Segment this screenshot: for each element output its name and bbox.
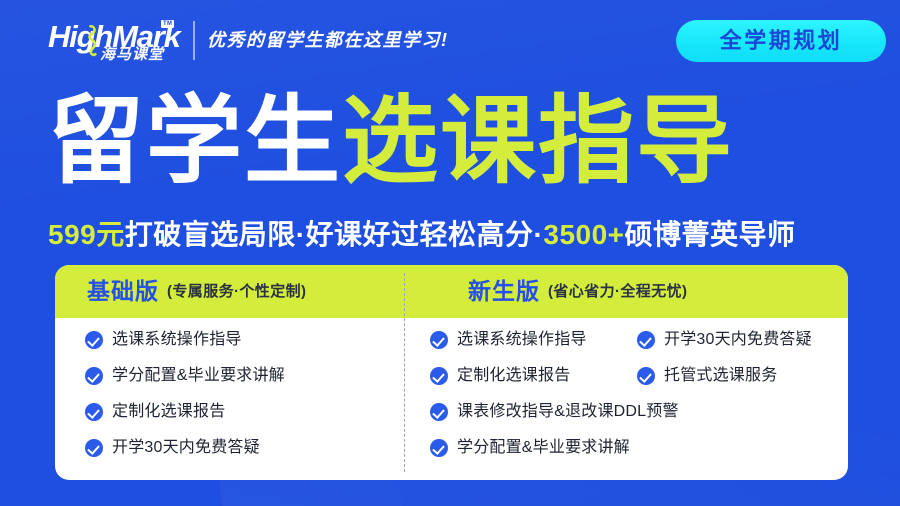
check-circle-icon (430, 439, 448, 457)
list-item: 定制化选课报告 (430, 363, 637, 389)
hero-title-part-2: 选课指导 (342, 94, 734, 190)
logo-chinese-name: 海马课堂 (100, 47, 164, 62)
feature-row: 开学30天内免费答疑 (85, 435, 385, 461)
hero-title: 留学生 选课指导 (48, 88, 858, 196)
semester-plan-badge[interactable]: 全学期规划 (676, 20, 886, 62)
hero-title-part-1: 留学生 (48, 94, 342, 190)
brand-logo[interactable]: HighMark TM 海马课堂 (48, 19, 198, 67)
header-divider (193, 21, 195, 60)
list-item: 选课系统操作指导 (85, 327, 242, 353)
check-circle-icon (430, 331, 448, 349)
semester-plan-badge-label: 全学期规划 (720, 30, 843, 52)
feature-label: 选课系统操作指导 (457, 332, 587, 348)
plans-card: 基础版 (专属服务·个性定制) 选课系统操作指导 学分配置&毕业要求讲解 (55, 265, 848, 480)
plan-freshman-heading: 新生版 (省心省力·全程无忧) (468, 265, 687, 318)
plan-basic-name: 基础版 (87, 280, 159, 303)
plan-basic-note: (专属服务·个性定制) (167, 284, 306, 299)
list-item: 课表修改指导&退改课DDL预警 (430, 399, 679, 425)
feature-label: 学分配置&毕业要求讲解 (112, 368, 285, 384)
feature-label: 定制化选课报告 (112, 404, 225, 420)
feature-label: 开学30天内免费答疑 (664, 332, 812, 348)
feature-label: 学分配置&毕业要求讲解 (457, 440, 630, 456)
feature-row: 定制化选课报告 (85, 399, 385, 425)
feature-row: 定制化选课报告 托管式选课服务 (430, 363, 840, 389)
feature-label: 定制化选课报告 (457, 368, 570, 384)
list-item: 定制化选课报告 (85, 399, 225, 425)
plan-column-basic: 基础版 (专属服务·个性定制) 选课系统操作指导 学分配置&毕业要求讲解 (55, 265, 404, 480)
sub-headline-text-2: 硕博菁英导师 (625, 221, 796, 249)
promo-banner: HighMark TM 海马课堂 优秀的留学生都在这里学习! 全学期规划 留学生… (0, 0, 900, 506)
plan-freshman-note: (省心省力·全程无忧) (548, 284, 687, 299)
check-circle-icon (85, 439, 103, 457)
list-item: 开学30天内免费答疑 (85, 435, 260, 461)
list-item: 托管式选课服务 (637, 363, 844, 389)
logo-trademark: TM (161, 20, 174, 28)
feature-row: 课表修改指导&退改课DDL预警 (430, 399, 840, 425)
plan-basic-feature-list: 选课系统操作指导 学分配置&毕业要求讲解 定制化选课报告 (85, 327, 385, 461)
feature-label: 课表修改指导&退改课DDL预警 (457, 404, 679, 420)
feature-label: 选课系统操作指导 (112, 332, 242, 348)
mentor-count: 3500+ (543, 221, 624, 249)
price-value: 599元 (48, 221, 125, 249)
sub-headline: 599元 打破盲选局限·好课好过轻松高分· 3500+ 硕博菁英导师 (48, 216, 860, 254)
feature-row: 选课系统操作指导 开学30天内免费答疑 (430, 327, 840, 353)
list-item: 开学30天内免费答疑 (637, 327, 844, 353)
feature-row: 学分配置&毕业要求讲解 (85, 363, 385, 389)
plan-column-freshman: 新生版 (省心省力·全程无忧) 选课系统操作指导 开学30天内免费答疑 (405, 265, 848, 480)
check-circle-icon (85, 331, 103, 349)
check-circle-icon (430, 403, 448, 421)
plan-basic-heading: 基础版 (专属服务·个性定制) (87, 265, 306, 318)
feature-label: 开学30天内免费答疑 (112, 440, 260, 456)
check-circle-icon (637, 367, 655, 385)
plan-freshman-name: 新生版 (468, 280, 540, 303)
feature-row: 选课系统操作指导 (85, 327, 385, 353)
list-item: 选课系统操作指导 (430, 327, 637, 353)
check-circle-icon (85, 367, 103, 385)
check-circle-icon (637, 331, 655, 349)
feature-label: 托管式选课服务 (664, 368, 777, 384)
list-item: 学分配置&毕业要求讲解 (85, 363, 285, 389)
feature-row: 学分配置&毕业要求讲解 (430, 435, 840, 461)
plan-freshman-feature-list: 选课系统操作指导 开学30天内免费答疑 定制化选课报告 托管式选课服务 (430, 327, 840, 461)
check-circle-icon (85, 403, 103, 421)
seahorse-icon (84, 25, 97, 59)
top-bar: HighMark TM 海马课堂 优秀的留学生都在这里学习! 全学期规划 (0, 0, 900, 78)
list-item: 学分配置&毕业要求讲解 (430, 435, 630, 461)
check-circle-icon (430, 367, 448, 385)
sub-headline-text-1: 打破盲选局限·好课好过轻松高分· (125, 221, 544, 249)
header-tagline: 优秀的留学生都在这里学习! (207, 31, 449, 49)
